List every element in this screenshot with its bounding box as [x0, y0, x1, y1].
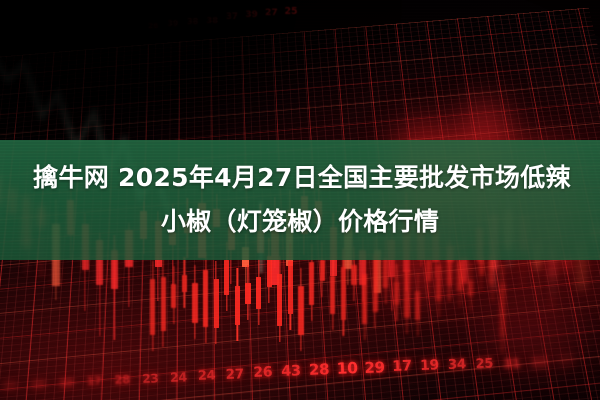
axis-tick-label: 34	[448, 356, 467, 373]
title-line-2: 小椒（灯笼椒）价格行情	[161, 201, 439, 243]
axis-tick-label: 26	[253, 365, 272, 382]
banner-image: 2639383837392725 16181917282324242726432…	[0, 0, 600, 400]
axis-tick-label: 24	[170, 369, 187, 385]
axis-tick-label: 17	[87, 375, 102, 389]
axis-tick-label: 17	[392, 359, 412, 376]
axis-tick-label: 23	[142, 371, 159, 386]
axis-tick-label: 19	[420, 358, 439, 375]
axis-tick-label: 28	[309, 360, 330, 379]
axis-tick-label: 57	[559, 354, 575, 369]
axis-tick-label: 31	[503, 355, 520, 371]
axis-tick-label: 27	[225, 366, 244, 383]
axis-tick-label: 24	[198, 368, 216, 384]
axis-tick-label: 16	[3, 380, 16, 391]
axis-tick-label: 29	[364, 358, 385, 377]
axis-tick-label: 19	[59, 377, 73, 389]
axis-tick-label: 43	[281, 363, 301, 380]
axis-tick-label: 10	[336, 359, 358, 378]
title-line-1: 擒牛网 2025年4月27日全国主要批发市场低辣	[29, 157, 571, 199]
axis-tick-label: 18	[31, 379, 45, 390]
title-overlay-band: 擒牛网 2025年4月27日全国主要批发市场低辣 小椒（灯笼椒）价格行情	[0, 140, 600, 260]
axis-tick-label: 28	[114, 373, 130, 388]
axis-tick-label: 32	[531, 355, 548, 370]
axis-tick-label: 25	[475, 356, 493, 372]
